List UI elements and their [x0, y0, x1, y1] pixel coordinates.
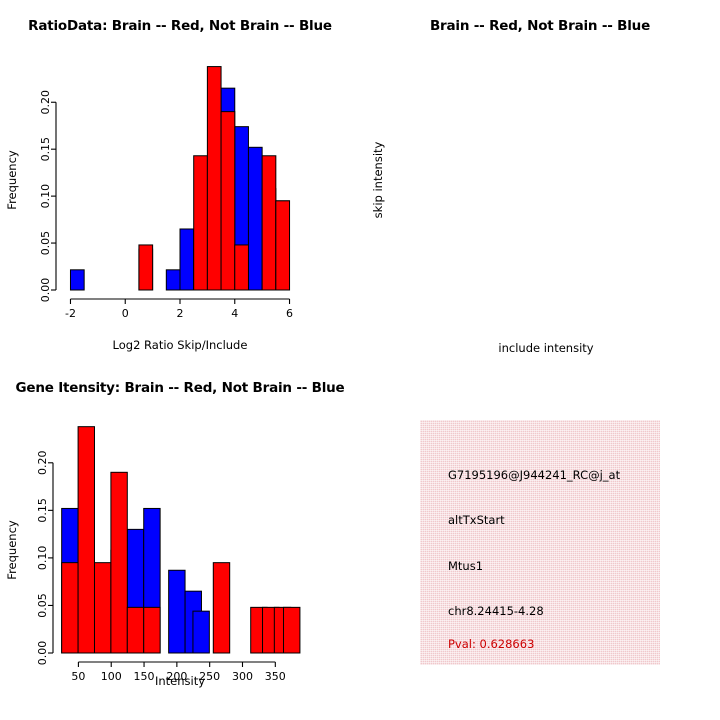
histogram-bar [194, 156, 208, 290]
y-tick-label: 0.10 [36, 546, 49, 571]
gene-histogram-panel: Gene Itensity: Brain -- Red, Not Brain -… [0, 360, 360, 720]
y-tick-label: 0.20 [39, 90, 52, 115]
ratio-histogram-xlabel: Log2 Ratio Skip/Include [113, 338, 248, 352]
histogram-bar [127, 607, 143, 653]
histogram-bar [70, 270, 84, 290]
x-tick-label: 0 [122, 307, 129, 320]
histogram-bar [180, 229, 194, 290]
x-tick-label: 100 [101, 670, 122, 683]
y-tick-label: 0.05 [39, 231, 52, 256]
x-tick-label: 4 [231, 307, 238, 320]
gene-histogram-xlabel: Intensity [155, 674, 205, 688]
histogram-bar [221, 112, 235, 290]
scatter-ylabel: skip intensity [371, 141, 385, 218]
histogram-bar [248, 147, 262, 290]
histogram-bar [213, 563, 229, 653]
x-tick-label: 6 [286, 307, 293, 320]
histogram-bar [139, 245, 153, 290]
gene-histogram-title: Gene Itensity: Brain -- Red, Not Brain -… [0, 380, 360, 396]
event-type-text: altTxStart [448, 513, 505, 527]
ratio-histogram-ylabel: Frequency [5, 150, 19, 210]
scatter-panel: Brain -- Red, Not Brain -- Blue 51015202… [360, 0, 720, 360]
histogram-bar [262, 156, 276, 290]
y-tick-label: 0.20 [36, 451, 49, 476]
x-tick-label: 350 [265, 670, 286, 683]
gene-symbol-text: Mtus1 [448, 559, 483, 573]
histogram-bar [207, 67, 221, 290]
histogram-bar [166, 270, 180, 290]
x-tick-label: 150 [134, 670, 155, 683]
histogram-bar [284, 607, 300, 653]
histogram-bar [62, 563, 78, 653]
histogram-bar [169, 570, 185, 653]
scatter-xlabel: include intensity [498, 341, 593, 355]
histogram-bar [144, 607, 160, 653]
x-tick-label: 300 [232, 670, 253, 683]
y-tick-label: 0.15 [36, 498, 49, 523]
gene-histogram-svg: 501001502002503003500.000.050.100.150.20… [0, 360, 360, 720]
x-tick-label: 2 [177, 307, 184, 320]
y-tick-label: 0.00 [39, 278, 52, 303]
x-tick-label: 50 [71, 670, 85, 683]
y-tick-label: 0.05 [36, 593, 49, 618]
x-tick-label: -2 [65, 307, 76, 320]
scatter-svg: 51015202530050100150200250300350 include… [360, 0, 720, 360]
y-tick-label: 0.15 [39, 137, 52, 162]
histogram-bar [235, 245, 249, 290]
y-tick-label: 0.10 [39, 184, 52, 209]
gene-info-panel: G7195196@J944241_RC@j_at altTxStart Mtus… [420, 420, 660, 665]
ratio-histogram-panel: RatioData: Brain -- Red, Not Brain -- Bl… [0, 0, 360, 360]
histogram-bar [78, 427, 94, 653]
gene-histogram-ylabel: Frequency [5, 520, 19, 580]
locus-text: chr8.24415-4.28 [448, 604, 544, 618]
histogram-bar [276, 201, 290, 290]
probe-id-text: G7195196@J944241_RC@j_at [448, 468, 620, 482]
histogram-bar [94, 563, 110, 653]
ratio-histogram-title: RatioData: Brain -- Red, Not Brain -- Bl… [0, 18, 360, 34]
pval-text: Pval: 0.628663 [448, 637, 534, 651]
y-tick-label: 0.00 [36, 641, 49, 666]
histogram-bar [111, 472, 127, 653]
scatter-title: Brain -- Red, Not Brain -- Blue [360, 18, 720, 34]
histogram-bar [193, 611, 209, 653]
ratio-histogram-svg: -202460.000.050.100.150.20 Log2 Ratio Sk… [0, 0, 360, 360]
